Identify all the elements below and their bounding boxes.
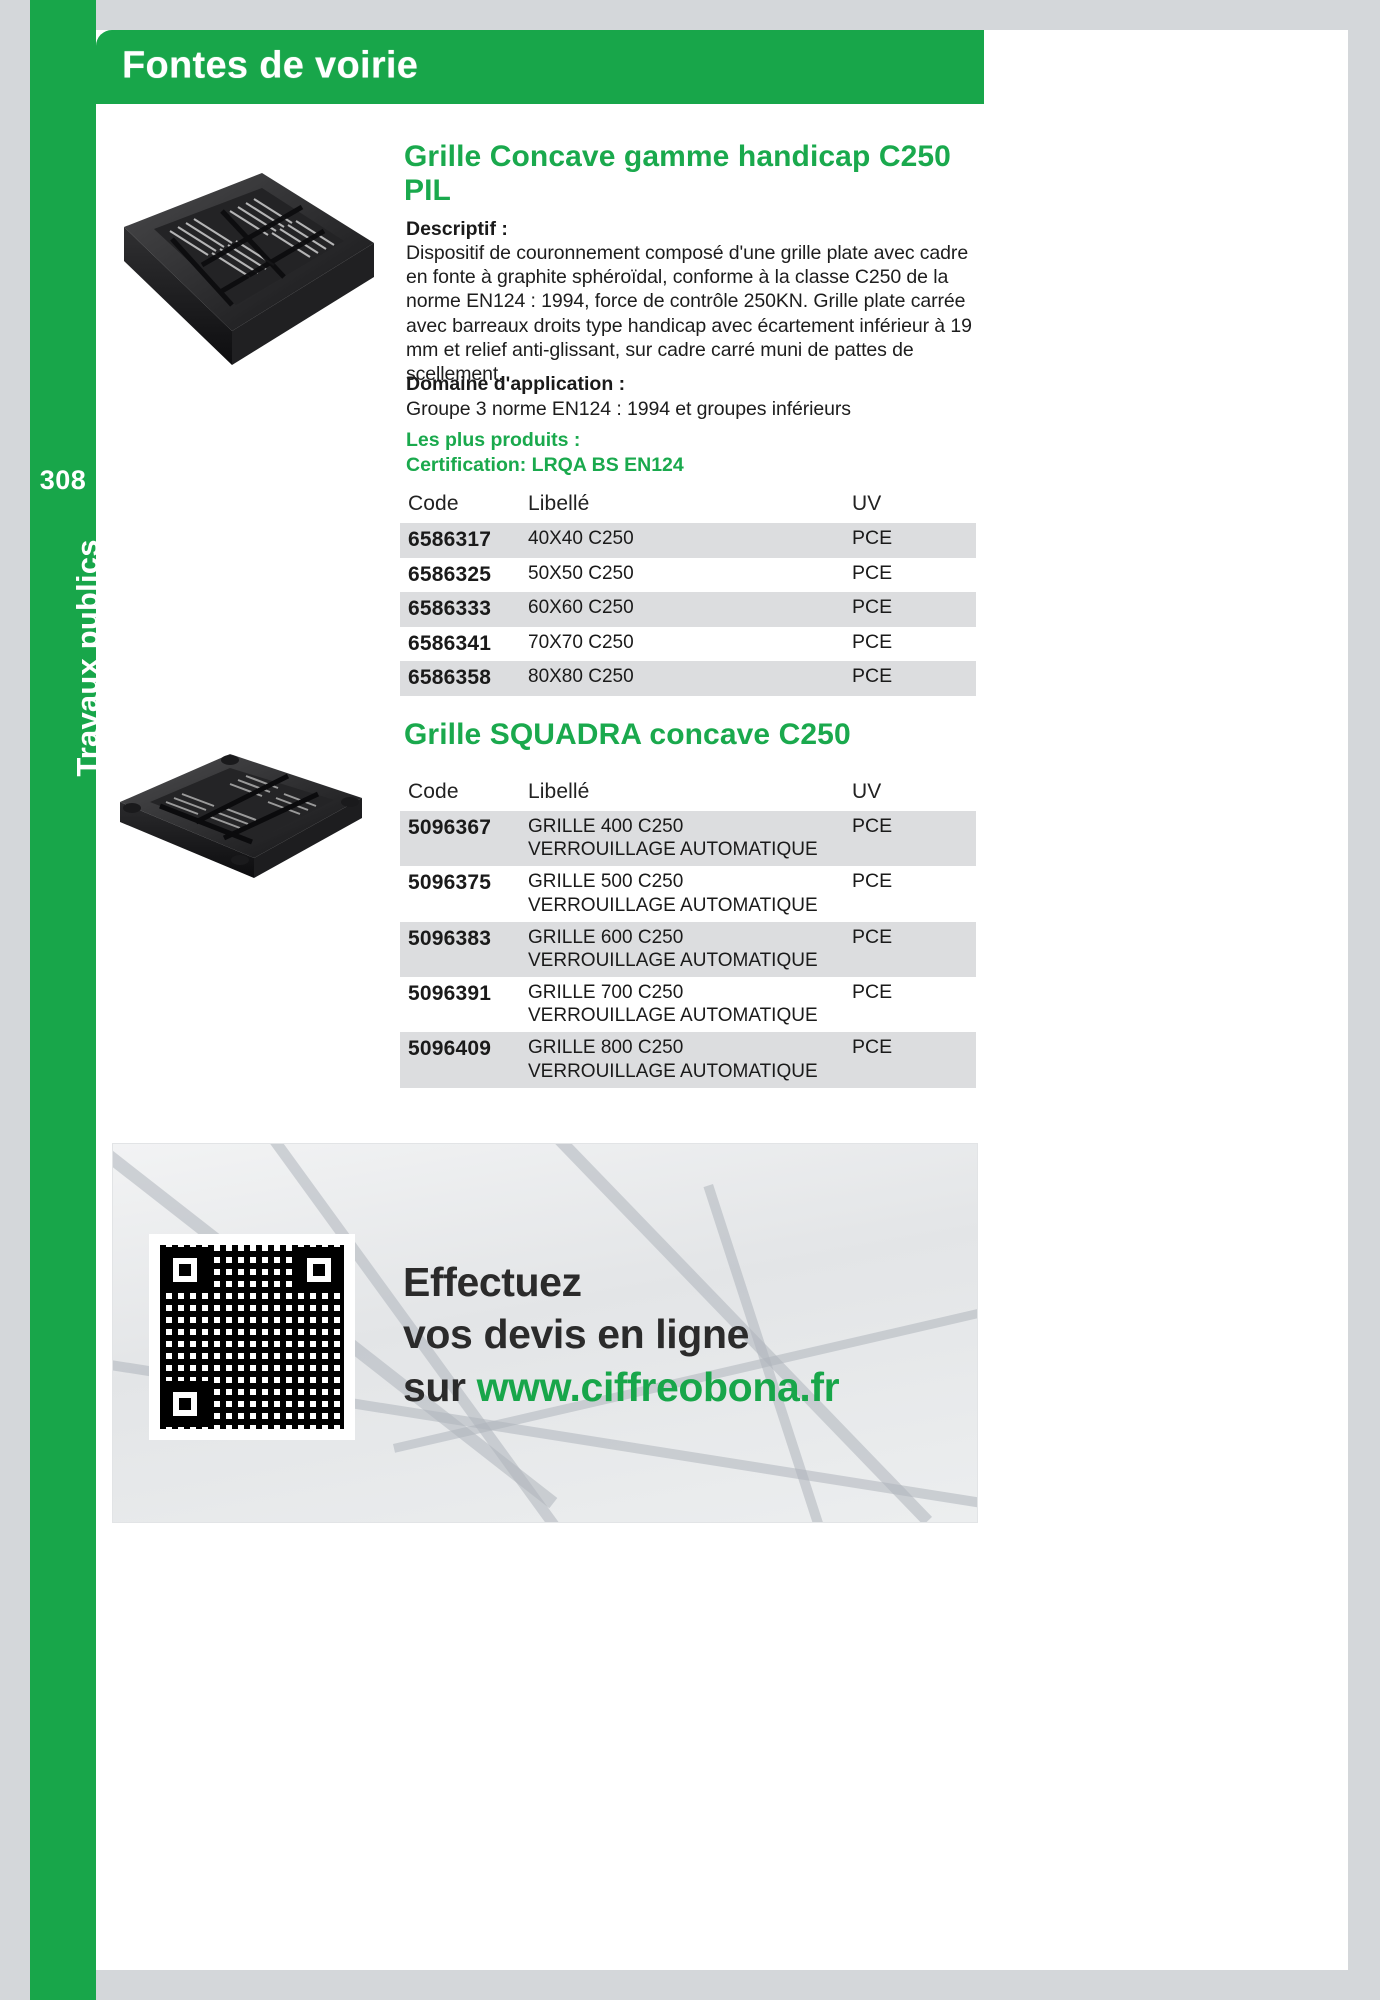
promo-text: Effectuez vos devis en ligne sur www.cif…	[403, 1256, 963, 1413]
promo-line-2: vos devis en ligne	[403, 1308, 963, 1360]
product-1-table-body: 6586317 40X40 C250 PCE 6586325 50X50 C25…	[400, 523, 976, 696]
certification-text: Certification: LRQA BS EN124	[406, 453, 976, 478]
descriptif-label: Descriptif :	[406, 218, 508, 241]
table-row[interactable]: 6586341 70X70 C250 PCE	[400, 627, 976, 662]
qr-code-pattern	[160, 1245, 344, 1429]
qr-finder-top-left	[162, 1247, 208, 1293]
catalog-page: Travaux publics 308 Fontes de voirie	[0, 0, 1380, 2000]
left-section-bar: Travaux publics	[30, 0, 96, 2000]
table-row[interactable]: 5096383 GRILLE 600 C250 VERROUILLAGE AUT…	[400, 922, 976, 977]
qr-finder-bottom-left	[162, 1381, 208, 1427]
cell-code: 6586358	[400, 661, 520, 696]
cell-uv: PCE	[830, 627, 976, 662]
cell-libelle: 80X80 C250	[520, 661, 830, 696]
col-header-uv: UV	[830, 490, 976, 523]
cell-uv: PCE	[830, 523, 976, 558]
promo-line-3-prefix: sur	[403, 1364, 477, 1410]
cell-libelle: GRILLE 700 C250 VERROUILLAGE AUTOMATIQUE	[520, 977, 830, 1032]
table-row[interactable]: 6586317 40X40 C250 PCE	[400, 523, 976, 558]
table-row[interactable]: 6586358 80X80 C250 PCE	[400, 661, 976, 696]
descriptif-text: Dispositif de couronnement composé d'une…	[406, 241, 976, 386]
table-row[interactable]: 5096409 GRILLE 800 C250 VERROUILLAGE AUT…	[400, 1032, 976, 1087]
les-plus-produits-block: Les plus produits : Certification: LRQA …	[406, 428, 976, 477]
domaine-application-text: Groupe 3 norme EN124 : 1994 et groupes i…	[406, 397, 976, 421]
table-row[interactable]: 5096367 GRILLE 400 C250 VERROUILLAGE AUT…	[400, 811, 976, 866]
promo-line-3: sur www.ciffreobona.fr	[403, 1361, 963, 1413]
cell-uv: PCE	[830, 922, 976, 977]
cell-libelle: 60X60 C250	[520, 592, 830, 627]
table-row[interactable]: 5096391 GRILLE 700 C250 VERROUILLAGE AUT…	[400, 977, 976, 1032]
cell-code: 5096409	[400, 1032, 520, 1087]
cell-code: 6586325	[400, 558, 520, 593]
cell-code: 5096383	[400, 922, 520, 977]
page-number: 308	[30, 465, 96, 496]
cell-code: 6586317	[400, 523, 520, 558]
product-1-table: Code Libellé UV 6586317 40X40 C250 PCE 6…	[400, 490, 976, 696]
promo-banner[interactable]: Effectuez vos devis en ligne sur www.cif…	[112, 1143, 978, 1523]
cell-uv: PCE	[830, 1032, 976, 1087]
cell-uv: PCE	[830, 592, 976, 627]
page-title: Fontes de voirie	[122, 45, 418, 88]
cell-uv: PCE	[830, 866, 976, 921]
table-row[interactable]: 5096375 GRILLE 500 C250 VERROUILLAGE AUT…	[400, 866, 976, 921]
qr-code[interactable]	[149, 1234, 355, 1440]
cell-uv: PCE	[830, 977, 976, 1032]
col-header-code: Code	[400, 778, 520, 811]
cell-code: 5096375	[400, 866, 520, 921]
section-label: Travaux publics	[70, 493, 106, 823]
cell-libelle: 50X50 C250	[520, 558, 830, 593]
les-plus-produits-label: Les plus produits :	[406, 428, 976, 453]
cell-code: 5096391	[400, 977, 520, 1032]
promo-website-url[interactable]: www.ciffreobona.fr	[477, 1364, 840, 1410]
cell-code: 6586341	[400, 627, 520, 662]
cell-uv: PCE	[830, 558, 976, 593]
col-header-libelle: Libellé	[520, 778, 830, 811]
cell-uv: PCE	[830, 811, 976, 866]
grille-concave-handicap-photo	[112, 165, 380, 377]
product-1-title: Grille Concave gamme handicap C250 PIL	[404, 140, 994, 208]
cell-libelle: 40X40 C250	[520, 523, 830, 558]
product-2-title: Grille SQUADRA concave C250	[404, 718, 994, 752]
table-row[interactable]: 6586325 50X50 C250 PCE	[400, 558, 976, 593]
grille-squadra-concave-photo	[112, 740, 370, 885]
table-row[interactable]: 6586333 60X60 C250 PCE	[400, 592, 976, 627]
product-2-table: Code Libellé UV 5096367 GRILLE 400 C250 …	[400, 778, 976, 1088]
cell-code: 6586333	[400, 592, 520, 627]
promo-line-1: Effectuez	[403, 1256, 963, 1308]
page-header-banner: Fontes de voirie	[96, 30, 984, 104]
cell-libelle: GRILLE 400 C250 VERROUILLAGE AUTOMATIQUE	[520, 811, 830, 866]
table-header-row: Code Libellé UV	[400, 490, 976, 523]
col-header-code: Code	[400, 490, 520, 523]
cell-libelle: GRILLE 500 C250 VERROUILLAGE AUTOMATIQUE	[520, 866, 830, 921]
product-2-table-body: 5096367 GRILLE 400 C250 VERROUILLAGE AUT…	[400, 811, 976, 1088]
cell-libelle: GRILLE 800 C250 VERROUILLAGE AUTOMATIQUE	[520, 1032, 830, 1087]
cell-libelle: 70X70 C250	[520, 627, 830, 662]
col-header-uv: UV	[830, 778, 976, 811]
cell-uv: PCE	[830, 661, 976, 696]
cell-code: 5096367	[400, 811, 520, 866]
domaine-application-label: Domaine d'application :	[406, 373, 625, 396]
qr-finder-top-right	[296, 1247, 342, 1293]
col-header-libelle: Libellé	[520, 490, 830, 523]
table-header-row: Code Libellé UV	[400, 778, 976, 811]
cell-libelle: GRILLE 600 C250 VERROUILLAGE AUTOMATIQUE	[520, 922, 830, 977]
